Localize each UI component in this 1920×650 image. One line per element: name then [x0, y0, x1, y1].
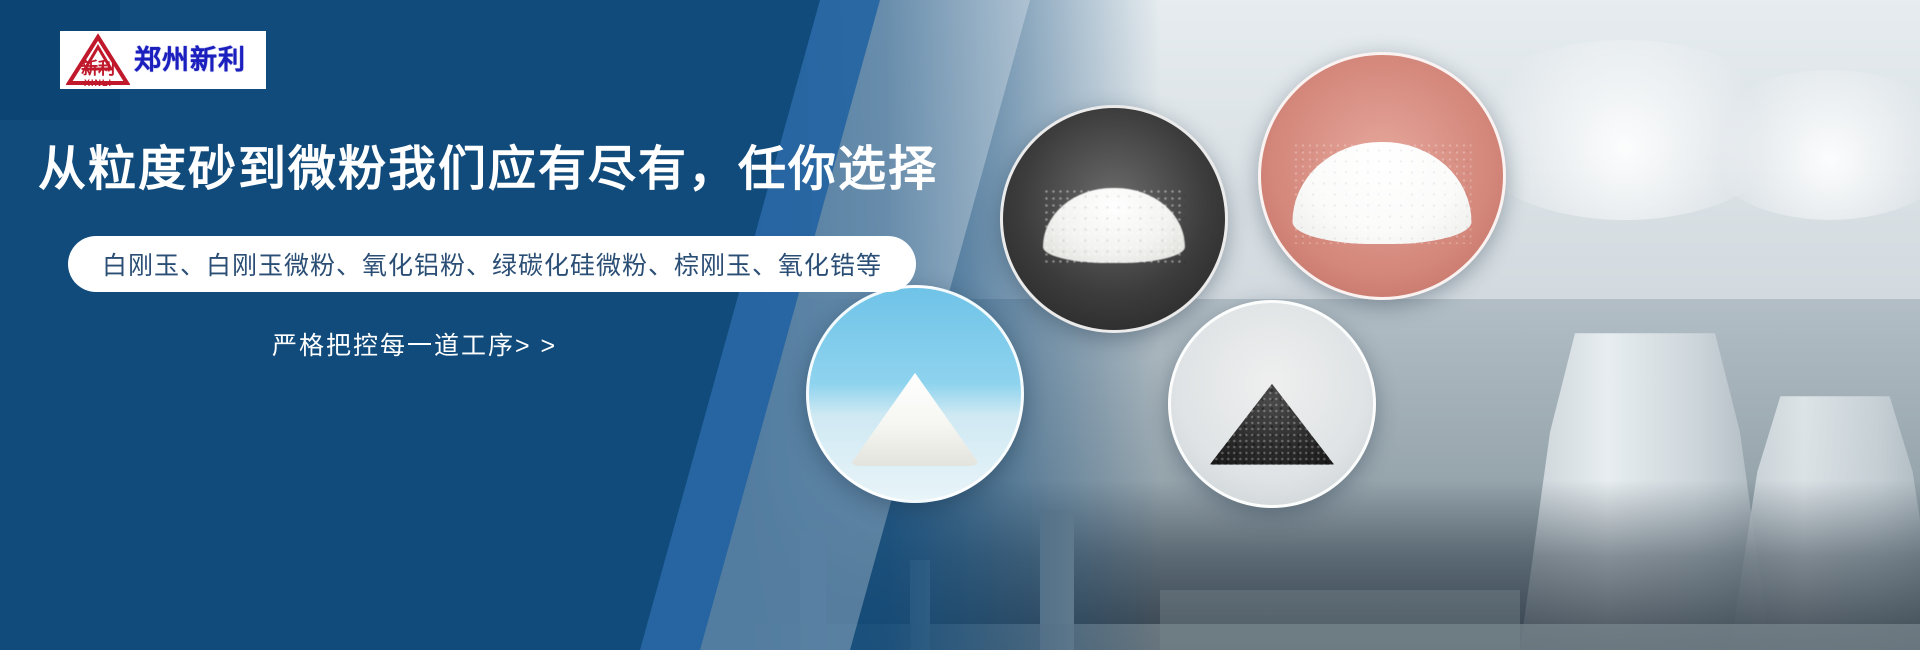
subtitle-cta-text[interactable]: 严格把控每一道工序> > [272, 326, 557, 362]
company-logo[interactable]: 新利 XINLI 郑州新利 [60, 31, 266, 89]
powder-cone [849, 373, 980, 466]
product-circle-white-fused-alumina-grit [1000, 105, 1228, 333]
triangle-logo-icon: 新利 XINLI [66, 33, 130, 87]
powder-heap [1292, 142, 1471, 244]
company-name-text: 郑州新利 [134, 47, 246, 74]
grain-texture [1201, 384, 1342, 465]
powder-heap [1043, 188, 1185, 263]
pipe-rack [1160, 590, 1520, 650]
grain-texture [1043, 188, 1185, 263]
granule-heap [1201, 384, 1342, 465]
product-list-text: 白刚玉、白刚玉微粉、氧化铝粉、绿碳化硅微粉、棕刚玉、氧化锆等 [102, 246, 882, 282]
product-list-pill: 白刚玉、白刚玉微粉、氧化铝粉、绿碳化硅微粉、棕刚玉、氧化锆等 [68, 236, 916, 292]
svg-text:XINLI: XINLI [84, 78, 112, 87]
promo-banner: 新利 XINLI 郑州新利 从粒度砂到微粉我们应有尽有，任你选择 白刚玉、白刚玉… [0, 0, 1920, 650]
product-circle-black-silicon-carbide [1168, 300, 1376, 508]
grain-texture [1292, 142, 1471, 244]
svg-text:新利: 新利 [81, 58, 115, 78]
product-circle-alumina-micropowder [1258, 52, 1506, 300]
product-circle-alumina-powder-cone [806, 285, 1024, 503]
headline-text: 从粒度砂到微粉我们应有尽有，任你选择 [38, 144, 938, 197]
